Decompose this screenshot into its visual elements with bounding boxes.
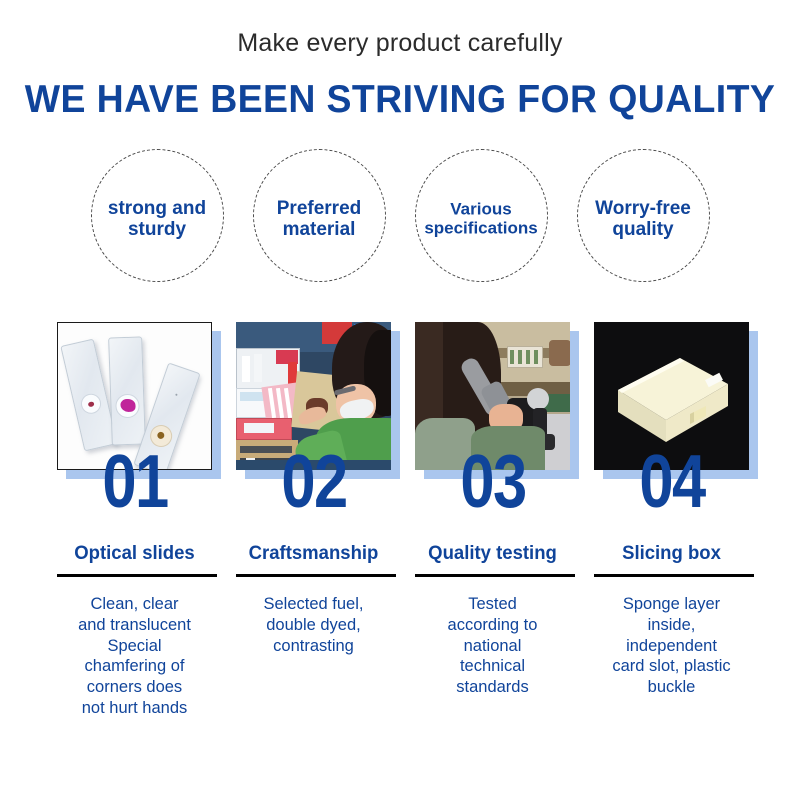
card-description: Tested according to national technical s… (415, 594, 570, 698)
page-title: WE HAVE BEEN STRIVING FOR QUALITY (16, 78, 784, 122)
product-card-row: 01 Optical slides Clean, clear and trans… (0, 322, 800, 719)
card-title: Craftsmanship (240, 542, 387, 565)
feature-badge-various-specifications: Various specifications (415, 149, 548, 282)
card-number: 04 (639, 444, 704, 519)
feature-badge-label: Worry-free quality (568, 197, 718, 240)
card-title: Quality testing (419, 542, 566, 565)
card-title-rule (236, 574, 396, 577)
card-thumbnail-wrap: 03 (415, 322, 570, 470)
card-thumbnail-wrap: 04 (594, 322, 749, 470)
card-number: 01 (102, 444, 167, 519)
card-number: 02 (281, 444, 346, 519)
feature-badge-row: strong and sturdy Preferred material Var… (0, 149, 800, 282)
page-subtitle: Make every product carefully (0, 0, 800, 58)
product-card-slicing-box: 04 Slicing box Sponge layer inside, inde… (594, 322, 749, 719)
feature-badge-label: Various specifications (402, 199, 560, 238)
card-number: 03 (460, 444, 525, 519)
feature-badge-label: Preferred material (244, 197, 394, 240)
feature-badge-strong-and-sturdy: strong and sturdy (91, 149, 224, 282)
feature-badge-preferred-material: Preferred material (253, 149, 386, 282)
card-title: Optical slides (61, 542, 208, 565)
product-card-quality-testing: 03 Quality testing Tested according to n… (415, 322, 570, 719)
card-title: Slicing box (598, 542, 745, 565)
feature-badge-label: strong and sturdy (82, 197, 232, 240)
product-card-craftsmanship: 02 Craftsmanship Selected fuel, double d… (236, 322, 391, 719)
card-description: Clean, clear and translucent Special cha… (57, 594, 212, 719)
card-description: Selected fuel, double dyed, contrasting (236, 594, 391, 656)
feature-badge-worry-free-quality: Worry-free quality (577, 149, 710, 282)
card-thumbnail-wrap: 01 (57, 322, 212, 470)
card-title-rule (415, 574, 575, 577)
card-description: Sponge layer inside, independent card sl… (594, 594, 749, 698)
card-title-rule (594, 574, 754, 577)
card-thumbnail-wrap: 02 (236, 322, 391, 470)
card-title-rule (57, 574, 217, 577)
product-feature-page: Make every product carefully WE HAVE BEE… (0, 0, 800, 800)
product-card-optical-slides: 01 Optical slides Clean, clear and trans… (57, 322, 212, 719)
